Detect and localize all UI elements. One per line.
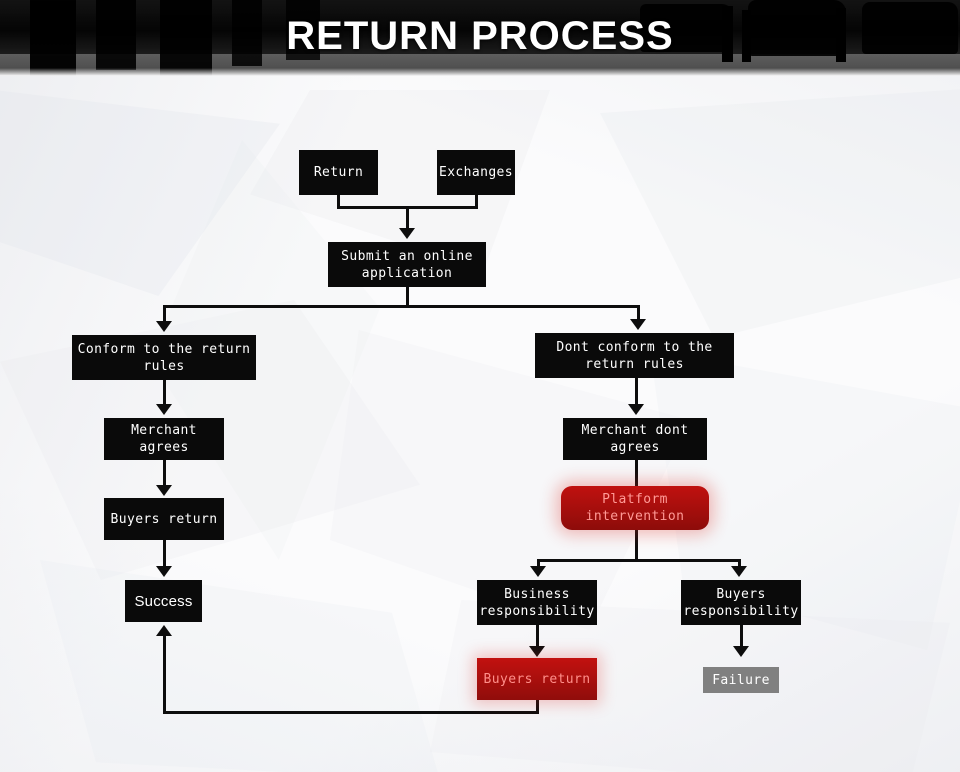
arrow-into-buyers-return-red	[529, 646, 545, 657]
node-return[interactable]: Return	[299, 150, 378, 195]
page-title: RETURN PROCESS	[0, 14, 960, 59]
node-exchanges[interactable]: Exchanges	[437, 150, 515, 195]
node-label: Submit an online application	[328, 248, 486, 282]
edge-split-bar-top	[163, 305, 640, 308]
node-conform-to-return-rules[interactable]: Conform to the return rules	[72, 335, 256, 380]
edge-business-to-buyersreturn	[536, 625, 539, 647]
node-label: Conform to the return rules	[72, 341, 256, 375]
node-failure[interactable]: Failure	[703, 667, 779, 693]
page-background	[0, 0, 960, 772]
node-platform-intervention[interactable]: Platform intervention	[561, 486, 709, 530]
node-label: Merchant agrees	[104, 422, 224, 456]
background-polygon	[600, 88, 960, 338]
node-dont-conform-to-return-rules[interactable]: Dont conform to the return rules	[535, 333, 734, 378]
arrow-into-dont-conform	[630, 319, 646, 330]
node-submit-online-application[interactable]: Submit an online application	[328, 242, 486, 287]
node-business-responsibility[interactable]: Business responsibility	[477, 580, 597, 625]
node-label: Buyers return	[484, 671, 591, 688]
arrow-into-buyers-return-left	[156, 485, 172, 496]
node-label: Platform intervention	[561, 491, 709, 525]
flowchart-page: RETURN PROCESS Return Exchanges	[0, 0, 960, 772]
node-label: Merchant dont agrees	[563, 422, 707, 456]
edge-loop-across	[163, 711, 539, 714]
background-polygon	[40, 560, 440, 772]
node-label: Failure	[712, 672, 770, 689]
edge-merchant-to-buyers	[163, 460, 166, 486]
arrow-loop-into-success	[156, 625, 172, 636]
arrow-into-conform	[156, 321, 172, 332]
edge-buyersresp-to-failure	[740, 625, 743, 647]
node-label: Exchanges	[439, 164, 513, 181]
edge-dontconform-to-merchantdont	[635, 378, 638, 405]
node-buyers-return-red[interactable]: Buyers return	[477, 658, 597, 700]
node-buyers-return-left[interactable]: Buyers return	[104, 498, 224, 540]
arrow-into-success	[156, 566, 172, 577]
node-label: Dont conform to the return rules	[535, 339, 734, 373]
edge-merge-to-submit	[406, 206, 409, 230]
banner-fade	[0, 68, 960, 76]
node-merchant-dont-agrees[interactable]: Merchant dont agrees	[563, 418, 707, 460]
node-merchant-agrees[interactable]: Merchant agrees	[104, 418, 224, 460]
edge-platform-down	[635, 526, 638, 562]
edge-conform-to-merchant	[163, 380, 166, 405]
arrow-into-merchant-dont	[628, 404, 644, 415]
arrow-into-submit	[399, 228, 415, 239]
arrow-into-buyers-responsibility	[731, 566, 747, 577]
node-label: Return	[314, 164, 363, 181]
arrow-into-business-responsibility	[530, 566, 546, 577]
arrow-into-merchant-agrees	[156, 404, 172, 415]
node-label: Buyers return	[111, 511, 218, 528]
node-label: Buyers responsibility	[681, 586, 801, 620]
edge-split-bar-bottom	[537, 559, 741, 562]
header-banner: RETURN PROCESS	[0, 0, 960, 76]
edge-buyers-to-success	[163, 540, 166, 567]
node-label: Business responsibility	[477, 586, 597, 620]
node-label: Success	[134, 593, 192, 610]
arrow-into-failure	[733, 646, 749, 657]
node-success[interactable]: Success	[125, 580, 202, 622]
edge-loop-up	[163, 636, 166, 712]
node-buyers-responsibility[interactable]: Buyers responsibility	[681, 580, 801, 625]
